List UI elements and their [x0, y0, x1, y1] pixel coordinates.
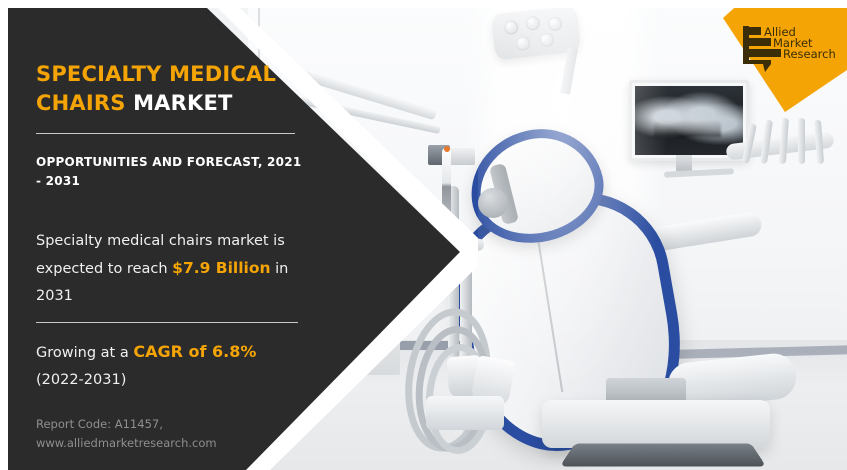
chair-foot-plate — [560, 443, 766, 466]
instrument-hose — [814, 120, 824, 164]
panel-content: SPECIALTY MEDICAL CHAIRS MARKET OPPORTUN… — [36, 8, 308, 453]
cagr-statement: Growing at a CAGR of 6.8% (2022-2031) — [36, 323, 308, 394]
allied-market-research-logo-icon: Allied Market Research — [741, 24, 841, 74]
page-edge-left — [0, 0, 8, 470]
market-report-banner: SPECIALTY MEDICAL CHAIRS MARKET OPPORTUN… — [0, 0, 847, 470]
website-url[interactable]: www.alliedmarketresearch.com — [36, 436, 217, 450]
title-plain: MARKET — [126, 91, 233, 115]
cagr-value: CAGR of 6.8% — [133, 342, 256, 361]
delivery-unit-box — [426, 396, 504, 430]
instrument-hose — [798, 118, 805, 164]
chair-headrest-knob — [478, 188, 508, 218]
page-title: SPECIALTY MEDICAL CHAIRS MARKET — [36, 8, 308, 118]
report-code: Report Code: A11457, — [36, 417, 163, 431]
chair-base — [542, 400, 770, 448]
page-edge-top — [0, 0, 847, 8]
cagr-suffix: (2022-2031) — [36, 372, 126, 388]
status-badge: $7.9 Billion — [172, 259, 270, 277]
brand-logo-badge[interactable]: Allied Market Research — [703, 0, 847, 112]
market-value-statement: Specialty medical chairs market is expec… — [36, 191, 308, 310]
monitor-stand — [676, 155, 692, 171]
curing-light-tip — [444, 146, 450, 152]
arm-joint-box-light — [449, 148, 475, 165]
monitor-arm — [664, 168, 734, 178]
logo-text-line3: Research — [783, 47, 836, 61]
cagr-prefix: Growing at a — [36, 345, 133, 361]
title-highlight-line1: SPECIALTY MEDICAL — [36, 62, 276, 86]
subtitle: OPPORTUNITIES AND FORECAST, 2021 - 2031 — [36, 134, 308, 191]
report-meta: Report Code: A11457, www.alliedmarketres… — [36, 394, 308, 453]
title-highlight-line2: CHAIRS — [36, 91, 126, 115]
